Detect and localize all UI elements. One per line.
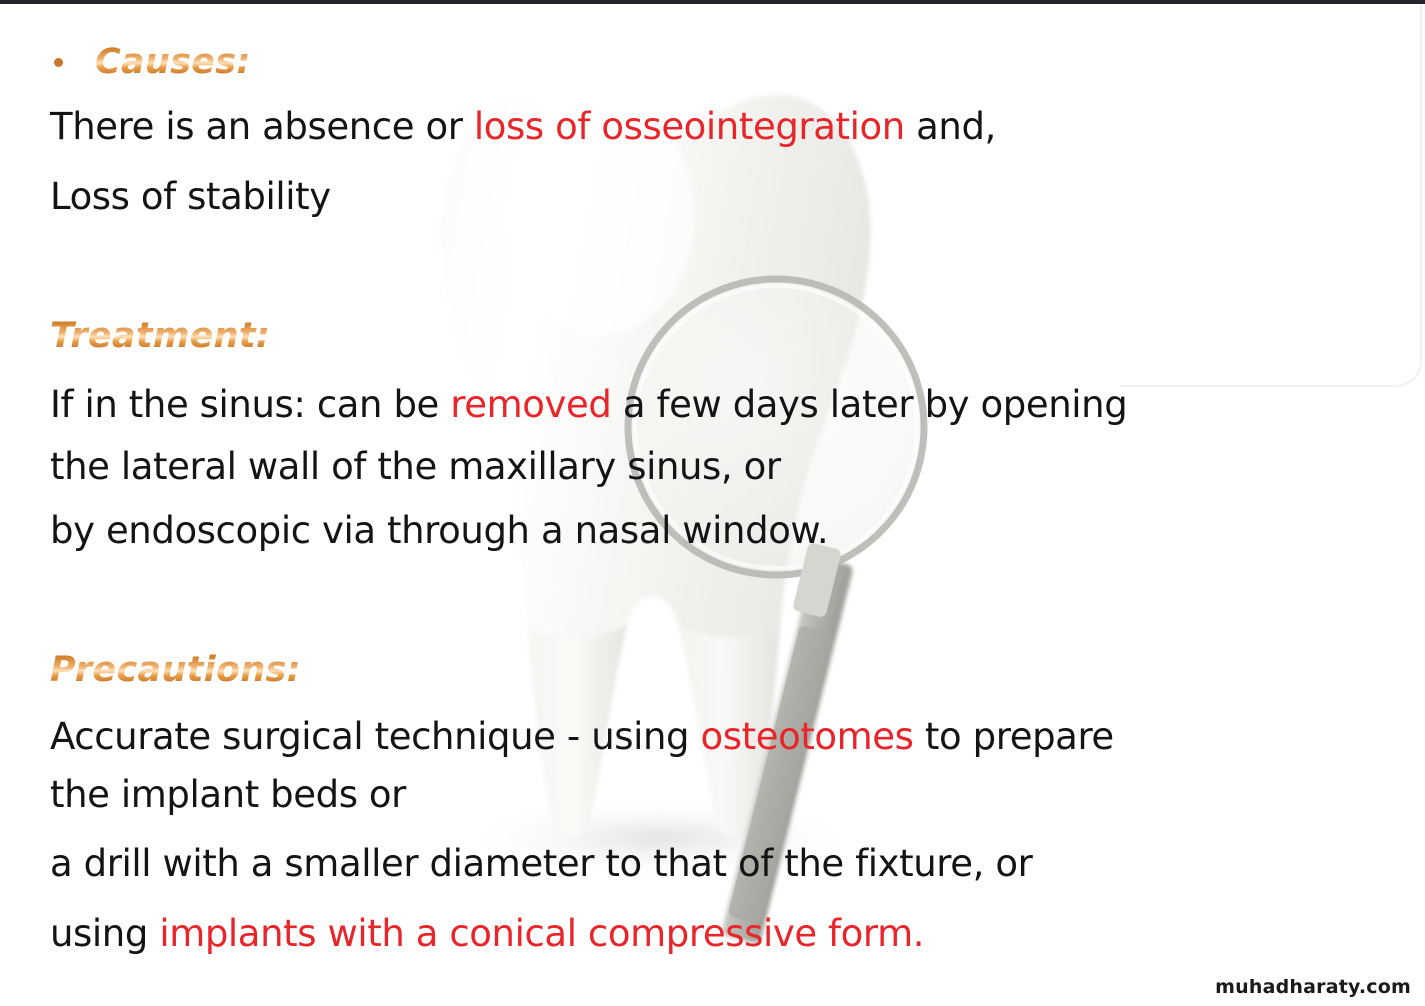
precautions-line-1: Accurate surgical technique - using oste… <box>50 718 1114 755</box>
heading-precautions: Precautions: <box>50 650 301 690</box>
causes-line-1-part-3: and, <box>905 105 996 148</box>
treatment-line-1-part-3: a few days later by opening <box>611 383 1127 426</box>
treatment-line-1-part-1: If in the sinus: can be <box>50 383 450 426</box>
treatment-line-1-highlight: removed <box>450 383 611 426</box>
causes-line-1: There is an absence or loss of osseointe… <box>50 108 996 145</box>
bullet-dot-icon <box>54 58 63 67</box>
precautions-line-2-text: the implant beds or <box>50 773 406 816</box>
site-watermark: muhadharaty.com <box>1215 976 1411 998</box>
top-border-rule <box>0 0 1425 4</box>
treatment-line-2: the lateral wall of the maxillary sinus,… <box>50 448 781 485</box>
precautions-line-2: the implant beds or <box>50 776 406 813</box>
causes-line-1-highlight: loss of osseointegration <box>474 105 905 148</box>
precautions-line-4-part-1: using <box>50 912 159 955</box>
precautions-line-4: using implants with a conical compressiv… <box>50 915 924 952</box>
causes-line-1-part-1: There is an absence or <box>50 105 474 148</box>
treatment-line-3: by endoscopic via through a nasal window… <box>50 512 828 549</box>
lecture-slide: Causes: There is an absence or loss of o… <box>0 0 1425 1006</box>
precautions-line-3: a drill with a smaller diameter to that … <box>50 845 1032 882</box>
precautions-line-4-highlight: implants with a conical compressive form… <box>159 912 924 955</box>
treatment-line-1: If in the sinus: can be removed a few da… <box>50 386 1127 423</box>
treatment-line-3-text: by endoscopic via through a nasal window… <box>50 509 828 552</box>
treatment-line-2-text: the lateral wall of the maxillary sinus,… <box>50 445 781 488</box>
heading-treatment: Treatment: <box>50 316 270 356</box>
precautions-line-1-part-3: to prepare <box>914 715 1114 758</box>
heading-causes: Causes: <box>95 42 251 82</box>
causes-line-2: Loss of stability <box>50 178 331 215</box>
causes-line-2-text: Loss of stability <box>50 175 331 218</box>
slide-content: Causes: There is an absence or loss of o… <box>0 0 1425 1006</box>
precautions-line-1-part-1: Accurate surgical technique - using <box>50 715 701 758</box>
precautions-line-3-text: a drill with a smaller diameter to that … <box>50 842 1032 885</box>
precautions-line-1-highlight: osteotomes <box>701 715 914 758</box>
